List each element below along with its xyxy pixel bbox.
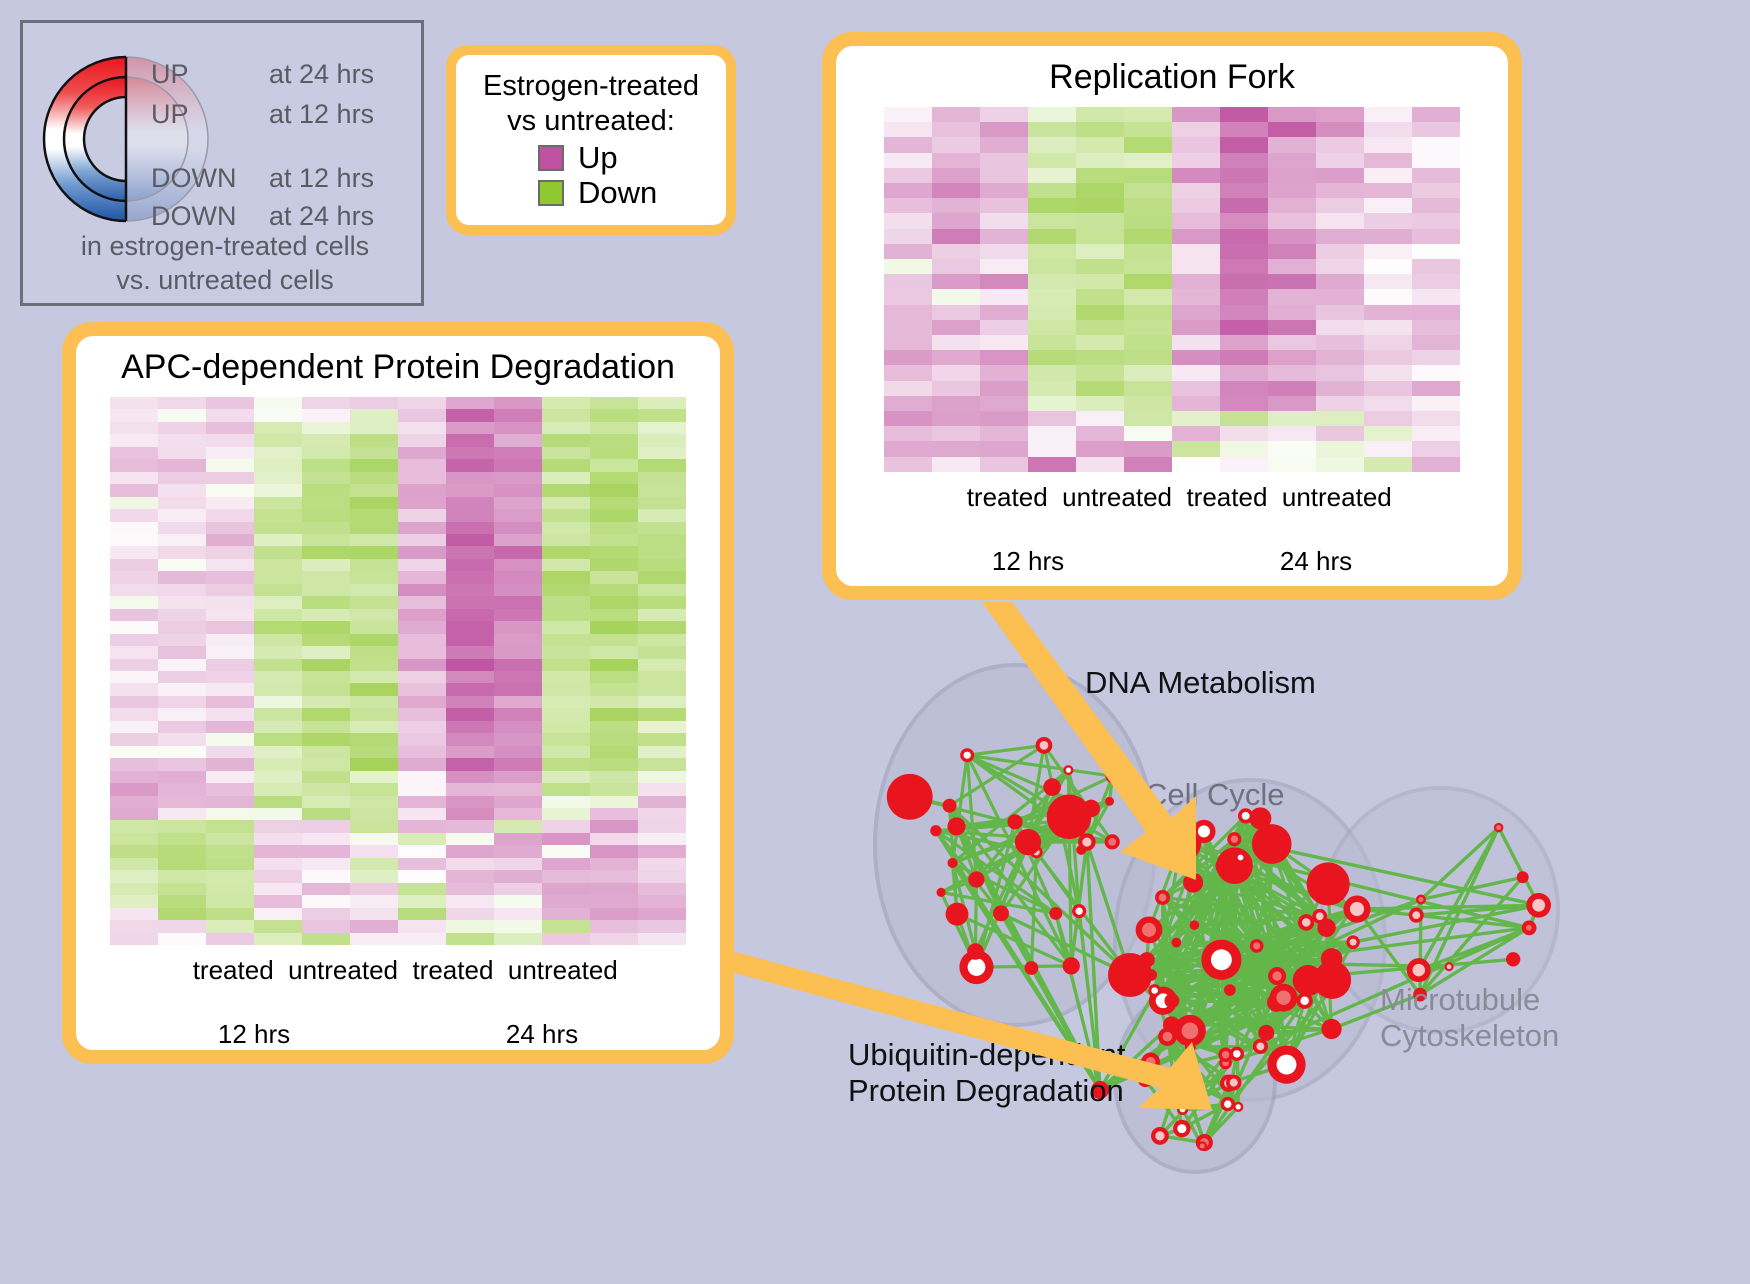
- heatmap-cell: [1028, 381, 1076, 396]
- heatmap-cell: [254, 559, 302, 571]
- heatmap-cell: [1268, 229, 1316, 244]
- heatmap-cell: [350, 509, 398, 521]
- network-node[interactable]: [1523, 922, 1534, 933]
- heatmap-cell: [542, 870, 590, 882]
- network-node[interactable]: [1517, 871, 1529, 883]
- heatmap-cell: [1364, 213, 1412, 228]
- network-node[interactable]: [1063, 957, 1080, 974]
- network-node[interactable]: [1174, 1015, 1206, 1047]
- heatmap-cell: [1172, 198, 1220, 213]
- heatmap-cell: [638, 933, 686, 945]
- heatmap-cell: [1076, 183, 1124, 198]
- network-node[interactable]: [1346, 935, 1360, 949]
- heatmap-cell: [302, 895, 350, 907]
- network-node[interactable]: [1253, 1039, 1268, 1054]
- heatmap-cell: [206, 845, 254, 857]
- heatmap-cell: [1268, 305, 1316, 320]
- heatmap-cell: [1124, 244, 1172, 259]
- key-row-2: DOWNat 12 hrs: [151, 163, 374, 194]
- network-node-outer: [947, 817, 965, 835]
- network-node[interactable]: [1407, 958, 1431, 982]
- network-node-inner: [1142, 923, 1156, 937]
- heatmap-cell: [1412, 426, 1460, 441]
- network-node[interactable]: [930, 825, 941, 836]
- heatmap-cell: [1364, 137, 1412, 152]
- network-node[interactable]: [1252, 824, 1292, 864]
- heatmap-cell: [302, 397, 350, 409]
- heatmap-cell: [254, 696, 302, 708]
- network-node[interactable]: [1409, 908, 1424, 923]
- network-node[interactable]: [1177, 1060, 1189, 1072]
- heatmap-cell: [494, 459, 542, 471]
- network-node[interactable]: [1192, 820, 1215, 843]
- heatmap-cell: [1412, 305, 1460, 320]
- network-node-outer: [946, 903, 969, 926]
- heatmap-cell: [932, 457, 980, 472]
- heatmap-cell: [1412, 229, 1460, 244]
- network-diagram: DNA Metabolism Cell Cycle Microtubule Cy…: [800, 620, 1750, 1279]
- heatmap-cell: [590, 659, 638, 671]
- heatmap-cell: [158, 746, 206, 758]
- heatmap-cell: [158, 484, 206, 496]
- network-node[interactable]: [947, 817, 965, 835]
- network-node[interactable]: [887, 774, 933, 820]
- heatmap-cell: [158, 721, 206, 733]
- heatmap-cell: [1412, 244, 1460, 259]
- heatmap-cell: [542, 733, 590, 745]
- heatmap-cell: [254, 596, 302, 608]
- heatmap-cell: [590, 708, 638, 720]
- network-node[interactable]: [1138, 1073, 1153, 1088]
- heatmap-cell: [980, 441, 1028, 456]
- network-node[interactable]: [1151, 1127, 1169, 1145]
- heatmap-cell: [1124, 168, 1172, 183]
- network-node[interactable]: [1321, 1019, 1341, 1039]
- network-node[interactable]: [1136, 917, 1163, 944]
- heatmap-cell: [1268, 350, 1316, 365]
- network-node[interactable]: [1141, 1052, 1160, 1071]
- network-node[interactable]: [1506, 952, 1520, 966]
- network-node[interactable]: [1108, 953, 1152, 997]
- network-node-inner: [1496, 825, 1501, 830]
- axis-labels-replication: treateduntreatedtreateduntreated: [952, 482, 1392, 513]
- heatmap-cell: [1364, 457, 1412, 472]
- heatmap-cell: [350, 883, 398, 895]
- network-node[interactable]: [1201, 940, 1241, 980]
- heatmap-cell: [1220, 305, 1268, 320]
- network-node[interactable]: [1082, 800, 1100, 818]
- network-node[interactable]: [1076, 845, 1086, 855]
- heatmap-cell: [932, 305, 980, 320]
- heatmap-cell: [590, 721, 638, 733]
- heatmap-cell: [398, 783, 446, 795]
- heatmap-cell: [638, 546, 686, 558]
- heatmap-cell: [206, 733, 254, 745]
- heatmap-cell: [350, 908, 398, 920]
- heatmap-cell: [350, 434, 398, 446]
- heatmap-cell: [980, 153, 1028, 168]
- heatmap-cell: [158, 584, 206, 596]
- heatmap-cell: [1076, 153, 1124, 168]
- heatmap-cell: [542, 422, 590, 434]
- network-node[interactable]: [946, 903, 969, 926]
- network-node[interactable]: [1105, 834, 1120, 849]
- axis-time-label: 24 hrs: [1172, 546, 1460, 577]
- heatmap-cell: [542, 447, 590, 459]
- network-node[interactable]: [1025, 961, 1039, 975]
- network-node[interactable]: [1177, 1104, 1188, 1115]
- heatmap-cell: [110, 584, 158, 596]
- heatmap-cell: [350, 497, 398, 509]
- heatmap-cell: [158, 646, 206, 658]
- heatmap-cell: [254, 584, 302, 596]
- heatmap-cell: [1028, 137, 1076, 152]
- heatmap-cell: [302, 771, 350, 783]
- heatmap-cell: [1412, 350, 1460, 365]
- heatmap-cell: [398, 484, 446, 496]
- heatmap-cell: [302, 509, 350, 521]
- heatmap-cell: [446, 571, 494, 583]
- network-node[interactable]: [1233, 1102, 1243, 1112]
- heatmap-cell: [1028, 411, 1076, 426]
- heatmap-cell: [1364, 122, 1412, 137]
- network-node[interactable]: [1235, 852, 1246, 863]
- heatmap-cell: [350, 683, 398, 695]
- heatmap-cell: [302, 422, 350, 434]
- network-node-outer: [1105, 797, 1114, 806]
- heatmap-cell: [350, 895, 398, 907]
- heatmap-cell: [446, 808, 494, 820]
- network-node[interactable]: [1298, 914, 1314, 930]
- network-node[interactable]: [1043, 778, 1061, 796]
- heatmap-cell: [1412, 396, 1460, 411]
- network-node[interactable]: [1258, 1025, 1274, 1041]
- heatmap-cell: [1412, 107, 1460, 122]
- heatmap-cell: [932, 335, 980, 350]
- heatmap-cell: [980, 320, 1028, 335]
- heatmap-cell: [398, 833, 446, 845]
- heatmap-cell: [446, 870, 494, 882]
- heatmap-cell: [1076, 244, 1124, 259]
- heatmap-cell: [590, 609, 638, 621]
- network-node[interactable]: [1164, 993, 1179, 1008]
- heatmap-cell: [1172, 168, 1220, 183]
- network-node-inner: [1159, 894, 1167, 902]
- heatmap-cell: [398, 671, 446, 683]
- heatmap-cell: [932, 426, 980, 441]
- heatmap-cell: [1124, 274, 1172, 289]
- legend-item-up: Up: [538, 141, 716, 174]
- heatmap-cell: [302, 833, 350, 845]
- heatmap-cell: [446, 820, 494, 832]
- heatmap-cell: [206, 708, 254, 720]
- heatmap-cell: [350, 733, 398, 745]
- heatmap-cell: [1268, 107, 1316, 122]
- heatmap-cell: [1172, 350, 1220, 365]
- heatmap-cell: [446, 434, 494, 446]
- heatmap-cell: [1172, 213, 1220, 228]
- heatmap-cell: [398, 609, 446, 621]
- network-node[interactable]: [1221, 1097, 1235, 1111]
- heatmap-cell: [494, 609, 542, 621]
- heatmap-cell: [110, 422, 158, 434]
- network-node[interactable]: [1183, 873, 1203, 893]
- network-node[interactable]: [1297, 993, 1313, 1009]
- heatmap-cell: [638, 472, 686, 484]
- network-node-inner: [1163, 1032, 1173, 1042]
- heatmap-cell: [206, 434, 254, 446]
- heatmap-cell: [446, 933, 494, 945]
- network-node[interactable]: [1416, 895, 1426, 905]
- network-node-outer: [1082, 800, 1100, 818]
- heatmap-cell: [1316, 320, 1364, 335]
- heatmap-cell: [542, 708, 590, 720]
- heatmap-cell: [542, 746, 590, 758]
- network-node[interactable]: [1268, 967, 1286, 985]
- heatmap-cell: [638, 771, 686, 783]
- heatmap-cell: [638, 796, 686, 808]
- heatmap-cell: [542, 497, 590, 509]
- network-node[interactable]: [1148, 984, 1161, 997]
- panel-title-apc: APC-dependent Protein Degradation: [121, 348, 675, 387]
- heatmap-cell: [1316, 213, 1364, 228]
- network-node[interactable]: [1267, 1045, 1305, 1083]
- key-row-1: UPat 12 hrs: [151, 99, 374, 130]
- network-node[interactable]: [993, 905, 1009, 921]
- heatmap-cell: [350, 634, 398, 646]
- heatmap-cell: [494, 883, 542, 895]
- heatmap-cell: [110, 571, 158, 583]
- network-node[interactable]: [1015, 829, 1041, 855]
- heatmap-cell: [350, 758, 398, 770]
- network-node[interactable]: [1227, 832, 1241, 846]
- heatmap-cell: [542, 646, 590, 658]
- network-node[interactable]: [1171, 938, 1181, 948]
- heatmap-cell: [494, 733, 542, 745]
- network-node[interactable]: [960, 748, 974, 762]
- heatmap-cell: [590, 820, 638, 832]
- heatmap-cell: [350, 671, 398, 683]
- network-node[interactable]: [1526, 893, 1551, 918]
- network-node[interactable]: [1072, 904, 1086, 918]
- color-key-caption-line2: vs. untreated cells: [23, 263, 427, 297]
- heatmap-cell: [1412, 457, 1460, 472]
- heatmap-cell: [1172, 381, 1220, 396]
- network-node[interactable]: [1047, 795, 1092, 840]
- heatmap-cell: [494, 571, 542, 583]
- heatmap-cell: [1364, 259, 1412, 274]
- heatmap-cell: [638, 870, 686, 882]
- axis-time-label: 24 hrs: [398, 1019, 686, 1050]
- network-node[interactable]: [1036, 737, 1053, 754]
- network-node-inner: [1277, 1055, 1297, 1075]
- heatmap-cell: [1364, 244, 1412, 259]
- network-node[interactable]: [1250, 939, 1264, 953]
- heatmap-cell: [932, 107, 980, 122]
- network-node-outer: [937, 888, 946, 897]
- heatmap-cell: [494, 908, 542, 920]
- heatmap-cell: [446, 796, 494, 808]
- heatmap-cell: [590, 908, 638, 920]
- heatmap-cell: [1268, 289, 1316, 304]
- heatmap-cell: [110, 659, 158, 671]
- network-node[interactable]: [968, 871, 984, 887]
- network-node[interactable]: [1215, 856, 1234, 875]
- heatmap-cell: [590, 559, 638, 571]
- heatmap-cell: [302, 609, 350, 621]
- heatmap-cell: [1172, 305, 1220, 320]
- heatmap-cell: [1028, 350, 1076, 365]
- heatmap-cell: [494, 497, 542, 509]
- heatmap-cell: [1220, 168, 1268, 183]
- heatmap-cell: [638, 808, 686, 820]
- heatmap-cell: [1172, 122, 1220, 137]
- heatmap-cell: [350, 409, 398, 421]
- heatmap-cell: [1220, 350, 1268, 365]
- heatmap-cell: [590, 783, 638, 795]
- heatmap-cell: [980, 411, 1028, 426]
- network-node[interactable]: [1155, 890, 1170, 905]
- network-node[interactable]: [943, 799, 957, 813]
- heatmap-cell: [158, 833, 206, 845]
- heatmap-cell: [590, 434, 638, 446]
- heatmap-cell: [1412, 381, 1460, 396]
- heatmap-cell: [1364, 441, 1412, 456]
- network-node[interactable]: [1158, 1027, 1177, 1046]
- heatmap-cell: [206, 808, 254, 820]
- heatmap-cell: [542, 858, 590, 870]
- network-node[interactable]: [1173, 1120, 1190, 1137]
- network-node-inner: [1082, 837, 1091, 846]
- heatmap-cell: [638, 820, 686, 832]
- network-node-inner: [1180, 1106, 1186, 1112]
- network-node[interactable]: [1494, 823, 1503, 832]
- heatmap-cell: [1316, 244, 1364, 259]
- network-node-inner: [1253, 942, 1260, 949]
- heatmap-cell: [1124, 183, 1172, 198]
- network-node-outer: [1043, 778, 1061, 796]
- network-node-inner: [1155, 1131, 1164, 1140]
- network-node[interactable]: [1307, 862, 1350, 905]
- network-node[interactable]: [937, 888, 946, 897]
- network-node[interactable]: [1270, 984, 1298, 1012]
- heatmap-cell: [1028, 365, 1076, 380]
- heatmap-cell: [446, 634, 494, 646]
- axis-group-label: treated: [178, 955, 288, 986]
- heatmap-cell: [590, 596, 638, 608]
- network-node[interactable]: [1063, 765, 1073, 775]
- heatmap-cell: [206, 883, 254, 895]
- heatmap-cell: [638, 833, 686, 845]
- heatmap-cell: [980, 107, 1028, 122]
- network-node[interactable]: [947, 858, 957, 868]
- legend-item-down: Down: [538, 176, 716, 209]
- heatmap-cell: [158, 820, 206, 832]
- network-node[interactable]: [1007, 814, 1022, 829]
- heatmap-cell: [494, 870, 542, 882]
- heatmap-cell: [350, 870, 398, 882]
- network-node-outer: [1164, 993, 1179, 1008]
- heatmap-cell: [158, 447, 206, 459]
- network-node[interactable]: [1343, 895, 1370, 922]
- network-node[interactable]: [1226, 1075, 1242, 1091]
- heatmap-cell: [254, 708, 302, 720]
- network-node[interactable]: [1224, 984, 1236, 996]
- heatmap-cell: [1412, 335, 1460, 350]
- heatmap-cell: [158, 522, 206, 534]
- network-node[interactable]: [1190, 920, 1200, 930]
- heatmap-cell: [542, 409, 590, 421]
- heatmap-cell: [638, 908, 686, 920]
- heatmap-cell: [1364, 335, 1412, 350]
- heatmap-cell: [542, 696, 590, 708]
- network-node[interactable]: [1317, 918, 1335, 936]
- network-node[interactable]: [1327, 971, 1349, 993]
- heatmap-cell: [1028, 229, 1076, 244]
- heatmap-cell: [350, 783, 398, 795]
- network-node-outer: [993, 905, 1009, 921]
- heatmap-cell: [1364, 350, 1412, 365]
- heatmap-cell: [158, 858, 206, 870]
- heatmap-cell: [884, 244, 932, 259]
- heatmap-cell: [446, 771, 494, 783]
- heatmap-cell: [932, 183, 980, 198]
- heatmap-cell: [398, 434, 446, 446]
- heatmap-cell: [542, 659, 590, 671]
- heatmap-cell: [542, 671, 590, 683]
- heatmap-cell: [446, 509, 494, 521]
- network-node-inner: [964, 752, 971, 759]
- heatmap-cell: [590, 509, 638, 521]
- heatmap-cell: [494, 397, 542, 409]
- heatmap-cell: [302, 447, 350, 459]
- heatmap-cell: [206, 696, 254, 708]
- heatmap-cell: [398, 870, 446, 882]
- heatmap-cell: [110, 609, 158, 621]
- heatmap-cell: [350, 584, 398, 596]
- heatmap-cell: [302, 796, 350, 808]
- network-node[interactable]: [1105, 797, 1114, 806]
- heatmap-cell: [1172, 365, 1220, 380]
- heatmap-cell: [254, 472, 302, 484]
- network-node[interactable]: [1049, 907, 1062, 920]
- heatmap-cell: [980, 274, 1028, 289]
- heatmap-cell: [254, 845, 302, 857]
- heatmap-cell: [638, 534, 686, 546]
- network-node-inner: [1142, 1076, 1150, 1084]
- heatmap-cell: [302, 820, 350, 832]
- heatmap-cell: [350, 820, 398, 832]
- network-node[interactable]: [1445, 962, 1454, 971]
- heatmap-cell: [1364, 426, 1412, 441]
- heatmap-cell: [1124, 137, 1172, 152]
- network-node[interactable]: [1197, 1141, 1207, 1151]
- heatmap-cell: [110, 646, 158, 658]
- heatmap-cell: [542, 845, 590, 857]
- heatmap-cell: [110, 596, 158, 608]
- heatmap-cell: [206, 758, 254, 770]
- network-node[interactable]: [1218, 1048, 1233, 1063]
- heatmap-cell: [302, 746, 350, 758]
- heatmap-cell: [398, 721, 446, 733]
- network-node[interactable]: [967, 943, 984, 960]
- heatmap-cell: [542, 546, 590, 558]
- heatmap-cell: [980, 122, 1028, 137]
- network-node-outer: [1007, 814, 1022, 829]
- heatmap-cell: [350, 858, 398, 870]
- heatmap-cell: [1076, 426, 1124, 441]
- network-node[interactable]: [1105, 769, 1119, 783]
